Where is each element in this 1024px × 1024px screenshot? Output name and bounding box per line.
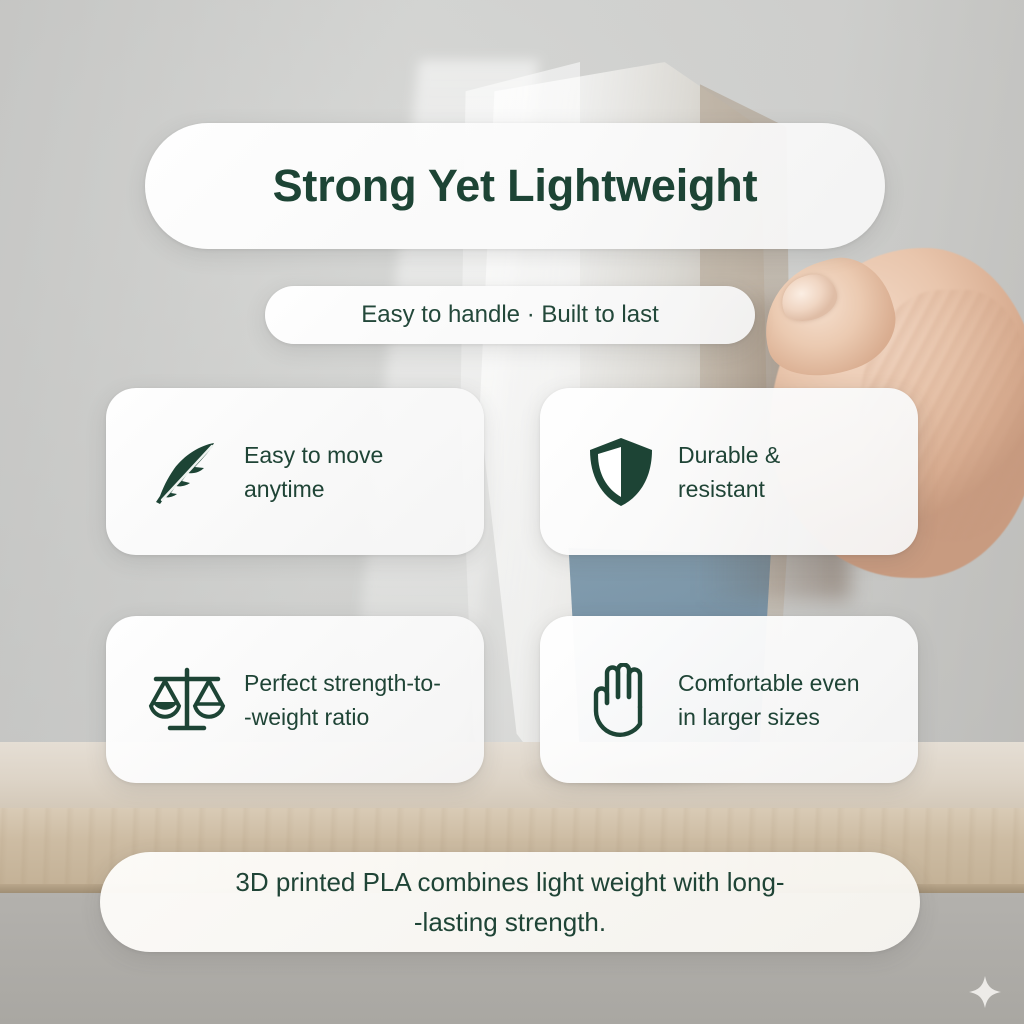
- page-title: Strong Yet Lightweight: [273, 160, 758, 212]
- page-subtitle: Easy to handle · Built to last: [361, 301, 659, 329]
- open-hand-icon: [582, 661, 660, 739]
- subtitle-pill: Easy to handle · Built to last: [265, 286, 755, 344]
- balance-scale-icon: [148, 661, 226, 739]
- footer-text: 3D printed PLA combines light weight wit…: [235, 862, 784, 942]
- footer-banner: 3D printed PLA combines light weight wit…: [100, 852, 920, 952]
- feature-label: Durable & resistant: [678, 438, 780, 506]
- feature-label: Easy to move anytime: [244, 438, 383, 506]
- feature-card-strength-to-weight: Perfect strength-to- -weight ratio: [106, 616, 484, 783]
- feature-card-easy-to-move: Easy to move anytime: [106, 388, 484, 555]
- feature-label: Perfect strength-to- -weight ratio: [244, 666, 441, 734]
- shield-icon: [582, 433, 660, 511]
- feature-label: Comfortable even in larger sizes: [678, 666, 860, 734]
- feature-card-durable: Durable & resistant: [540, 388, 918, 555]
- feature-card-comfortable: Comfortable even in larger sizes: [540, 616, 918, 783]
- infographic-stage: Strong Yet Lightweight Easy to handle · …: [0, 0, 1024, 1024]
- title-pill: Strong Yet Lightweight: [145, 123, 885, 249]
- feather-icon: [148, 433, 226, 511]
- sparkle-icon: [968, 975, 1002, 1009]
